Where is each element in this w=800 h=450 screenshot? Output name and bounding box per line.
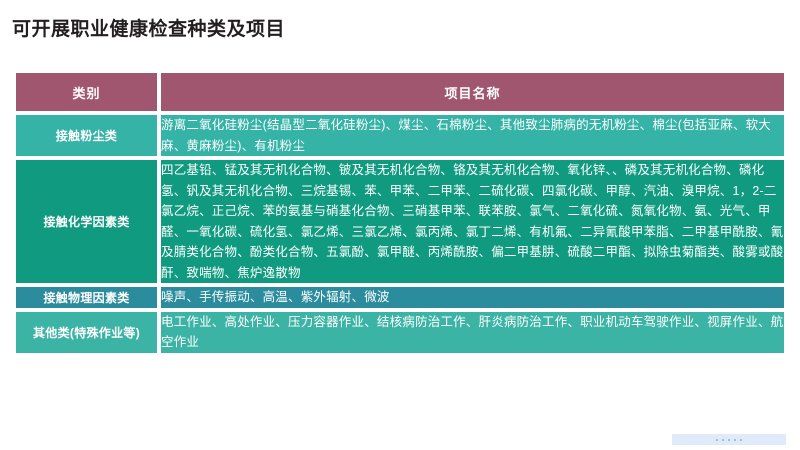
column-header-category: 类别 [14,71,159,113]
row-items-other: 电工作业、高处作业、压力容器作业、结核病防治工作、肝炎病防治工作、职业机动车驾驶… [159,310,786,355]
health-exam-table: 类别 项目名称 接触粉尘类 游离二氧化硅粉尘(结晶型二氧化硅粉尘)、煤尘、石棉粉… [14,71,786,355]
row-category-physical: 接触物理因素类 [14,285,159,310]
table-header-row: 类别 项目名称 [14,71,786,113]
health-exam-table-wrapper: 类别 项目名称 接触粉尘类 游离二氧化硅粉尘(结晶型二氧化硅粉尘)、煤尘、石棉粉… [14,71,786,355]
row-items-dust: 游离二氧化硅粉尘(结晶型二氧化硅粉尘)、煤尘、石棉粉尘、其他致尘肺病的无机粉尘、… [159,113,786,158]
row-category-other: 其他类(特殊作业等) [14,310,159,355]
table-row: 接触物理因素类 噪声、手传振动、高温、紫外辐射、微波 [14,285,786,310]
row-category-chemical: 接触化学因素类 [14,158,159,285]
row-items-chemical: 四乙基铅、锰及其无机化合物、铍及其无机化合物、铬及其无机化合物、氧化锌、、磷及其… [159,158,786,285]
slide-canvas: 可开展职业健康检查种类及项目 类别 项目名称 接触粉尘类 游离二氧化硅粉尘(结晶… [0,0,800,450]
ellipsis-icon [716,439,742,441]
table-row: 接触化学因素类 四乙基铅、锰及其无机化合物、铍及其无机化合物、铬及其无机化合物、… [14,158,786,285]
page-title: 可开展职业健康检查种类及项目 [12,14,285,41]
row-items-physical: 噪声、手传振动、高温、紫外辐射、微波 [159,285,786,310]
bottom-overlay-bar[interactable] [672,434,786,445]
table-row: 接触粉尘类 游离二氧化硅粉尘(结晶型二氧化硅粉尘)、煤尘、石棉粉尘、其他致尘肺病… [14,113,786,158]
row-category-dust: 接触粉尘类 [14,113,159,158]
column-header-items: 项目名称 [159,71,786,113]
table-row: 其他类(特殊作业等) 电工作业、高处作业、压力容器作业、结核病防治工作、肝炎病防… [14,310,786,355]
